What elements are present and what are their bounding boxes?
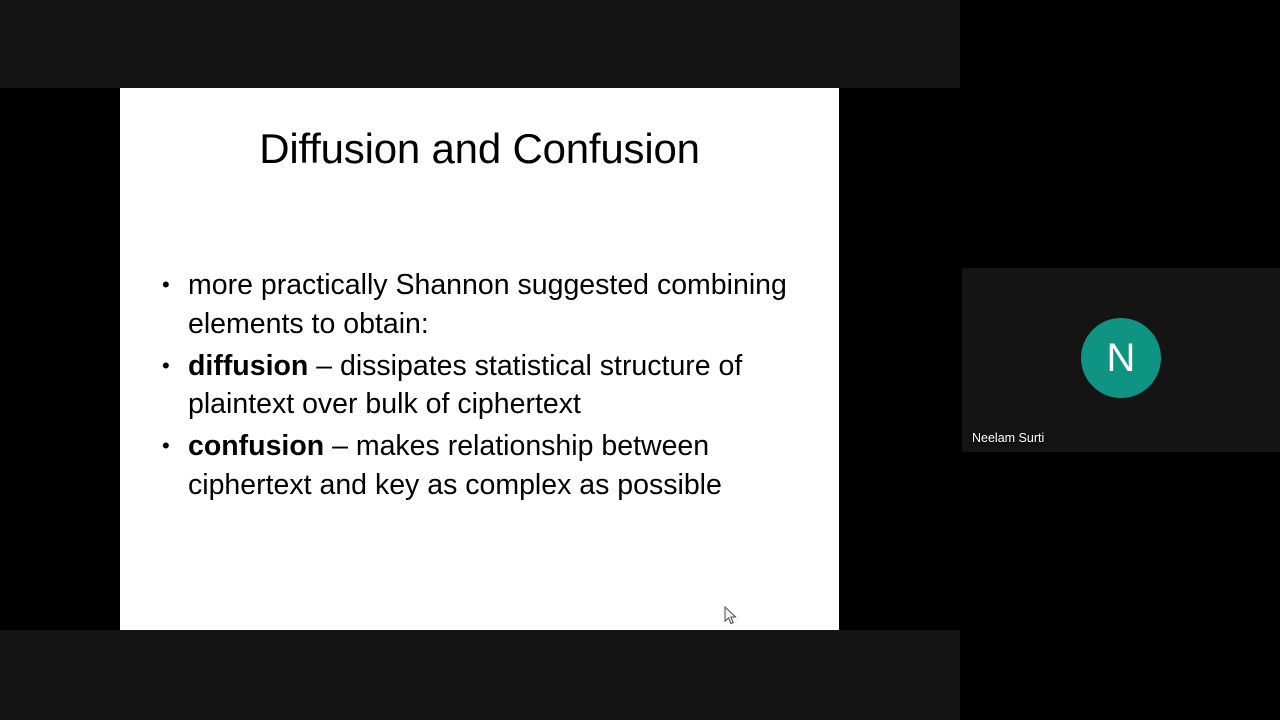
list-item: • confusion – makes relationship between… bbox=[162, 427, 813, 505]
avatar: N bbox=[1081, 318, 1161, 398]
list-item: • more practically Shannon suggested com… bbox=[162, 266, 813, 344]
bullet-marker-icon: • bbox=[162, 266, 188, 304]
bullet-marker-icon: • bbox=[162, 347, 188, 385]
page-title: Diffusion and Confusion bbox=[120, 128, 839, 170]
bullet-marker-icon: • bbox=[162, 427, 188, 465]
list-item-text: more practically Shannon suggested combi… bbox=[188, 266, 813, 344]
presentation-stage[interactable]: Diffusion and Confusion • more practical… bbox=[0, 88, 960, 630]
participant-name-label: Neelam Surti bbox=[972, 431, 1044, 445]
letterbox-band-bottom bbox=[0, 630, 960, 720]
participant-tile[interactable]: N Neelam Surti bbox=[962, 268, 1280, 452]
list-item-lead: diffusion bbox=[188, 350, 308, 382]
letterbox-band-top bbox=[0, 0, 960, 88]
list-item-lead: confusion bbox=[188, 430, 324, 462]
list-item-text: diffusion – dissipates statistical struc… bbox=[188, 347, 813, 425]
list-item: • diffusion – dissipates statistical str… bbox=[162, 347, 813, 425]
slide-bullet-list: • more practically Shannon suggested com… bbox=[162, 266, 813, 508]
meeting-canvas: Diffusion and Confusion • more practical… bbox=[0, 0, 1280, 720]
arrow-cursor-icon bbox=[724, 606, 738, 626]
list-item-text: confusion – makes relationship between c… bbox=[188, 427, 813, 505]
list-item-body: more practically Shannon suggested combi… bbox=[188, 269, 787, 340]
shared-slide: Diffusion and Confusion • more practical… bbox=[120, 88, 839, 630]
